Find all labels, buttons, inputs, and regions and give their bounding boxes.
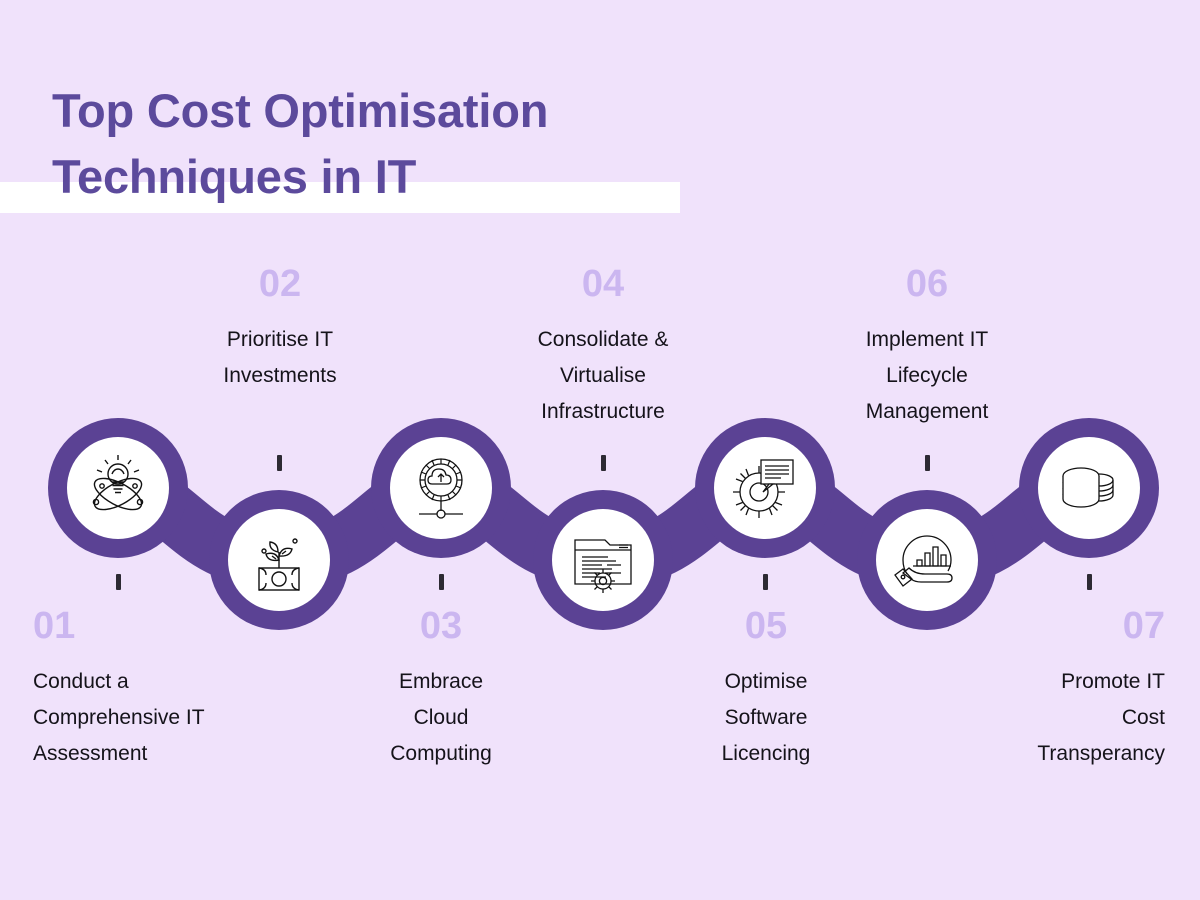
step-label-02: Prioritise IT Investments xyxy=(175,322,385,394)
step-number-02: 02 xyxy=(175,262,385,306)
step-label-01: Conduct a Comprehensive IT Assessment xyxy=(33,664,263,772)
step-05: 05 Optimise Software Licencing xyxy=(661,604,871,772)
step-number-06: 06 xyxy=(822,262,1032,306)
step-number-01: 01 xyxy=(33,604,263,648)
plant-money-icon xyxy=(243,524,315,596)
node-icon-02[interactable] xyxy=(229,510,329,610)
step-number-03: 03 xyxy=(336,604,546,648)
lightbulb-atom-icon xyxy=(82,452,154,524)
hand-bar-chart-icon xyxy=(891,524,963,596)
step-03: 03 Embrace Cloud Computing xyxy=(336,604,546,772)
step-label-04: Consolidate & Virtualise Infrastructure xyxy=(498,322,708,430)
tick-mark-07 xyxy=(1087,574,1092,590)
step-label-07: Promote IT Cost Transperancy xyxy=(935,664,1165,772)
node-icon-07[interactable] xyxy=(1039,438,1139,538)
tick-mark-02 xyxy=(277,455,282,471)
coin-stack-icon xyxy=(1053,452,1125,524)
tick-mark-03 xyxy=(439,574,444,590)
step-label-03: Embrace Cloud Computing xyxy=(336,664,546,772)
document-gear-icon xyxy=(567,524,639,596)
cloud-gear-network-icon xyxy=(405,452,477,524)
step-number-04: 04 xyxy=(498,262,708,306)
node-icon-06[interactable] xyxy=(877,510,977,610)
step-04: 04 Consolidate & Virtualise Infrastructu… xyxy=(498,262,708,430)
step-label-06: Implement IT Lifecycle Management xyxy=(822,322,1032,430)
tick-mark-05 xyxy=(763,574,768,590)
step-07: 07 Promote IT Cost Transperancy xyxy=(935,604,1165,772)
step-number-07: 07 xyxy=(935,604,1165,648)
step-06: 06 Implement IT Lifecycle Management xyxy=(822,262,1032,430)
step-label-05: Optimise Software Licencing xyxy=(661,664,871,772)
step-number-05: 05 xyxy=(661,604,871,648)
step-01: 01 Conduct a Comprehensive IT Assessment xyxy=(33,604,263,772)
gear-document-icon xyxy=(729,452,801,524)
step-02: 02 Prioritise IT Investments xyxy=(175,262,385,394)
tick-mark-04 xyxy=(601,455,606,471)
node-icon-03[interactable] xyxy=(391,438,491,538)
page-title: Top Cost Optimisation Techniques in IT xyxy=(52,78,752,210)
node-icon-05[interactable] xyxy=(715,438,815,538)
tick-mark-01 xyxy=(116,574,121,590)
node-icon-01[interactable] xyxy=(68,438,168,538)
node-icon-04[interactable] xyxy=(553,510,653,610)
tick-mark-06 xyxy=(925,455,930,471)
